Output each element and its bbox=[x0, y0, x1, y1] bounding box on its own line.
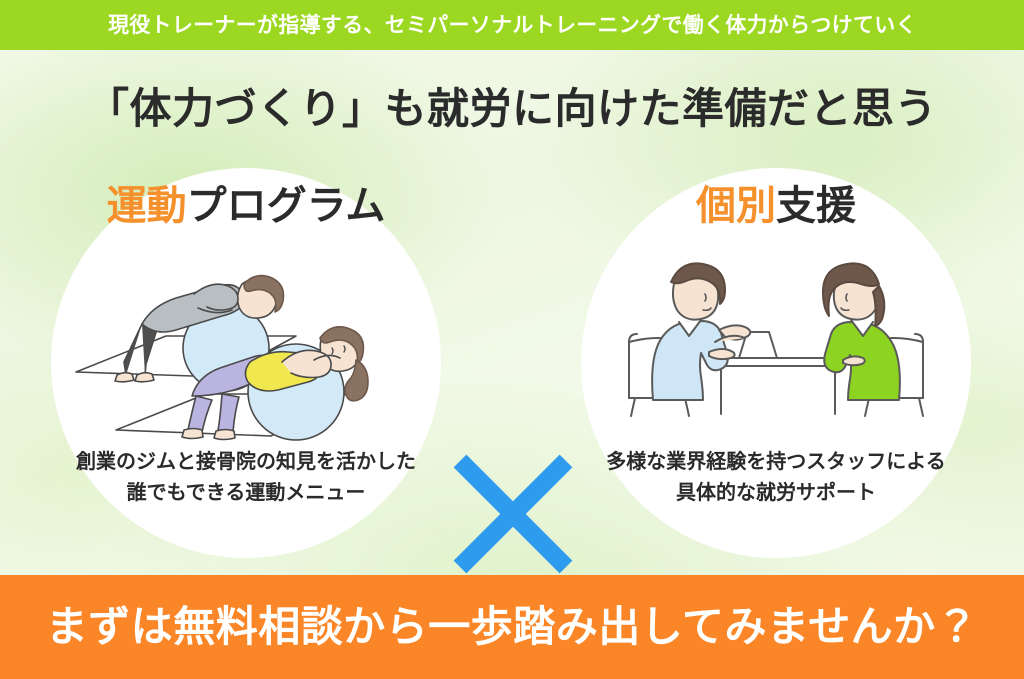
panel-caption-left-line1: 創業のジムと接骨院の知見を活かした bbox=[26, 446, 466, 477]
panel-title-right-rest: 支援 bbox=[776, 183, 856, 229]
bottom-cta-banner[interactable]: まずは無料相談から一歩踏み出してみませんか？ bbox=[0, 575, 1024, 679]
panel-title-left: 運動プログラム bbox=[26, 186, 466, 226]
panel-individual-support: 個別支援 bbox=[556, 160, 996, 520]
top-banner: 現役トレーナーが指導する、セミパーソナルトレーニングで働く体力からつけていく bbox=[0, 0, 1024, 50]
top-banner-text: 現役トレーナーが指導する、セミパーソナルトレーニングで働く体力からつけていく bbox=[108, 15, 917, 36]
panel-caption-right: 多様な業界経験を持つスタッフによる 具体的な就労サポート bbox=[556, 446, 996, 508]
consultation-meeting-icon bbox=[591, 248, 961, 428]
panel-caption-right-line1: 多様な業界経験を持つスタッフによる bbox=[556, 446, 996, 477]
panel-caption-left-line2: 誰でもできる運動メニュー bbox=[26, 477, 466, 508]
promo-poster: 現役トレーナーが指導する、セミパーソナルトレーニングで働く体力からつけていく 「… bbox=[0, 0, 1024, 679]
panel-caption-left: 創業のジムと接骨院の知見を活かした 誰でもできる運動メニュー bbox=[26, 446, 466, 508]
panel-exercise-program: 運動プログラム bbox=[26, 160, 466, 520]
panel-title-left-rest: プログラム bbox=[187, 183, 386, 229]
bottom-cta-text: まずは無料相談から一歩踏み出してみませんか？ bbox=[46, 606, 978, 648]
page-title: 「体力づくり」も就労に向けた準備だと思う bbox=[0, 84, 1024, 134]
feature-panels: 運動プログラム bbox=[0, 160, 1024, 520]
exercise-ball-crunch-icon bbox=[46, 244, 446, 444]
panel-title-right: 個別支援 bbox=[556, 186, 996, 226]
panel-caption-right-line2: 具体的な就労サポート bbox=[556, 477, 996, 508]
panel-title-right-accent: 個別 bbox=[696, 183, 776, 229]
panel-title-left-accent: 運動 bbox=[107, 183, 187, 229]
cross-multiply-icon bbox=[451, 452, 575, 576]
